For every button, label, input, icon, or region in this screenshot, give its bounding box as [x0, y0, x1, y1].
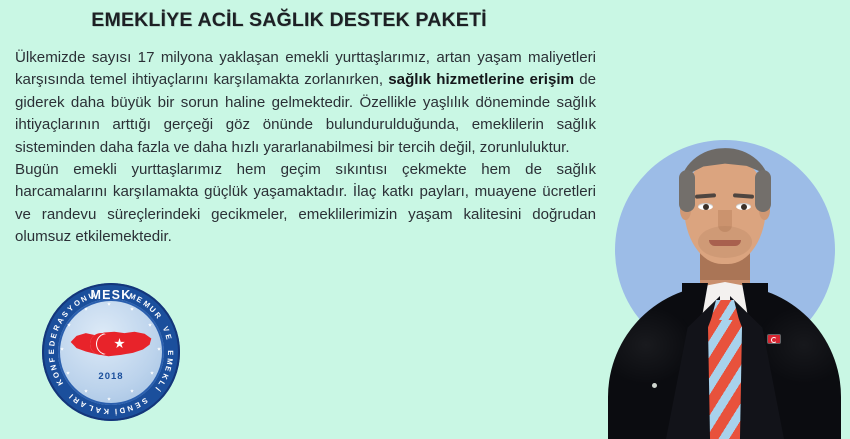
logo-ring-glyph: N — [126, 403, 134, 413]
pupil-right — [741, 204, 747, 210]
portrait-photo — [600, 100, 850, 439]
turkish-flag-lapel-pin-icon — [768, 335, 780, 343]
logo-ring-glyph: R — [51, 324, 61, 333]
logo-ring-glyph: E — [166, 350, 175, 355]
announcement-body: Ülkemizde sayısı 17 milyona yaklaşan eme… — [15, 47, 596, 249]
logo-ring-glyph — [148, 391, 156, 399]
logo-ring-glyph: E — [47, 349, 56, 354]
logo-ring-glyph: E — [164, 333, 174, 340]
page-title: EMEKLİYE ACİL SAĞLIK DESTEK PAKETİ — [0, 9, 578, 32]
logo-ring-glyph: E — [134, 400, 143, 410]
hair-side-left — [679, 170, 695, 212]
lapel-button — [652, 383, 657, 388]
crescent-icon — [90, 333, 112, 355]
logo-ring-glyph: A — [95, 405, 102, 415]
logo-ring-glyph: K — [103, 407, 109, 416]
logo-ring-glyph: V — [161, 325, 171, 333]
striped-tie — [708, 306, 742, 439]
logo-ring-glyph: A — [79, 399, 88, 410]
logo-year: 2018 — [42, 371, 180, 382]
mouth — [709, 240, 741, 246]
logo-ring-glyph: L — [87, 403, 94, 413]
paragraph-1: Ülkemizde sayısı 17 milyona yaklaşan eme… — [15, 47, 596, 159]
person-figure — [600, 100, 850, 439]
logo-ring-glyph: E — [49, 332, 59, 339]
logo-ring-glyph: M — [165, 358, 175, 366]
announcement-card: EMEKLİYE ACİL SAĞLIK DESTEK PAKETİ Ülkem… — [0, 0, 850, 439]
paragraph-2: Bugün emekli yurttaşlarımız hem geçim sı… — [15, 159, 596, 249]
logo-acronym: MESK — [42, 288, 180, 302]
logo-ring-glyph: S — [140, 396, 149, 406]
paragraph-1-highlight: sağlık hizmetlerine erişim — [388, 71, 574, 88]
hair-side-right — [755, 170, 771, 212]
mesk-logo: MEMUR VE EMEKLİ SENDİKALARI KONFEDERASYO… — [42, 283, 180, 421]
logo-ring-glyph — [61, 387, 69, 394]
logo-ring-glyph: F — [47, 357, 57, 363]
logo-ring-glyph — [165, 342, 174, 345]
logo-ring-glyph: D — [47, 340, 57, 347]
pupil-left — [703, 204, 709, 210]
logo-ring-glyph: İ — [115, 407, 118, 416]
logo-ring-glyph: D — [119, 405, 126, 415]
